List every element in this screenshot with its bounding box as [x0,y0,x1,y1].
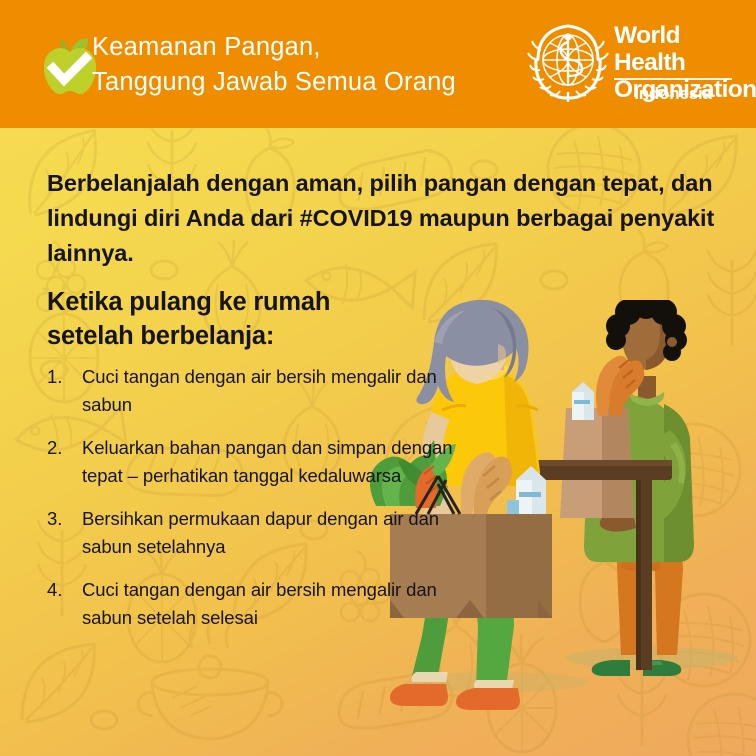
steps-list: 1. Cuci tangan dengan air bersih mengali… [47,363,467,647]
who-country-label: Indonesia [614,84,732,104]
header-band: Keamanan Pangan, Tanggung Jawab Semua Or… [0,0,756,128]
poster-copy: Berbelanjalah dengan aman, pilih pangan … [0,128,756,756]
campaign-title: Keamanan Pangan, Tanggung Jawab Semua Or… [92,30,456,100]
step-text: Keluarkan bahan pangan dan simpan dengan… [82,434,467,489]
step-number: 2. [47,434,82,489]
lede-paragraph: Berbelanjalah dengan aman, pilih pangan … [47,166,727,271]
section-subheading: Ketika pulang ke rumah setelah berbelanj… [47,285,447,353]
step-text: Cuci tangan dengan air bersih mengalir d… [82,576,467,631]
step-text: Bersihkan permukaan dapur dengan air dan… [82,505,467,560]
list-item: 3. Bersihkan permukaan dapur dengan air … [47,505,467,560]
who-emblem-icon [524,20,612,108]
step-number: 3. [47,505,82,560]
step-text: Cuci tangan dengan air bersih mengalir d… [82,363,467,418]
list-item: 1. Cuci tangan dengan air bersih mengali… [47,363,467,418]
list-item: 4. Cuci tangan dengan air bersih mengali… [47,576,467,631]
step-number: 4. [47,576,82,631]
who-logo: World Health Organization Indonesia [524,16,734,114]
list-item: 2. Keluarkan bahan pangan dan simpan den… [47,434,467,489]
poster-canvas: Keamanan Pangan, Tanggung Jawab Semua Or… [0,0,756,756]
who-divider [614,78,732,80]
step-number: 1. [47,363,82,418]
